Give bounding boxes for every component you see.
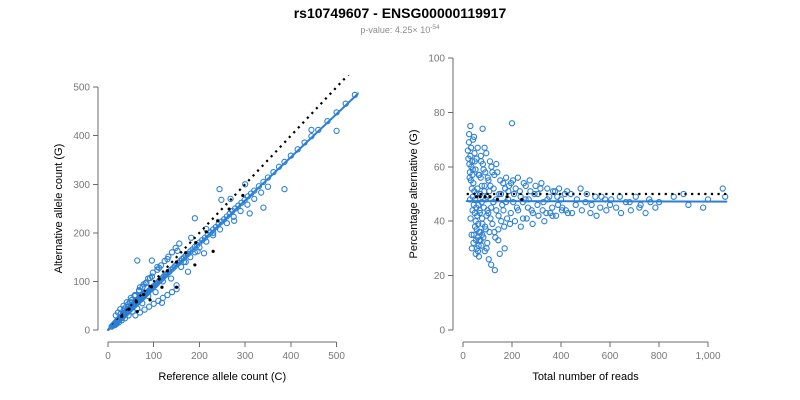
- x-tick-label: 400: [283, 351, 300, 362]
- data-point-dark: [488, 195, 491, 198]
- figure-subtitle: p-value: 4.25× 10-54: [0, 23, 800, 37]
- data-point-dark: [166, 269, 169, 272]
- title-block: rs10749607 - ENSG00000119917 p-value: 4.…: [0, 4, 800, 37]
- x-tick-label: 0: [105, 351, 111, 362]
- data-point: [490, 221, 495, 226]
- data-point: [179, 264, 184, 269]
- data-point: [535, 202, 540, 207]
- data-point-dark: [520, 198, 523, 201]
- data-point: [309, 127, 314, 132]
- data-point-dark: [150, 285, 153, 288]
- data-point: [496, 213, 501, 218]
- y-tick-label: 0: [84, 326, 90, 337]
- data-point-dark: [175, 260, 178, 263]
- data-point-dark: [194, 241, 197, 244]
- data-point: [540, 208, 545, 213]
- data-point-dark: [148, 298, 151, 301]
- data-point: [720, 186, 725, 191]
- data-point-dark: [241, 194, 244, 197]
- x-tick-label: 600: [602, 351, 619, 362]
- data-point-dark: [127, 308, 130, 311]
- data-point: [192, 216, 197, 221]
- data-point: [494, 161, 499, 166]
- data-point-dark: [120, 315, 123, 318]
- data-point-dark: [483, 195, 486, 198]
- data-point: [475, 145, 480, 150]
- data-point: [589, 202, 594, 207]
- data-point: [245, 202, 250, 207]
- data-point: [478, 153, 483, 158]
- y-tick-label: 100: [428, 54, 445, 65]
- data-point: [504, 175, 509, 180]
- data-point: [247, 211, 252, 216]
- mean-line: [467, 201, 727, 202]
- data-point: [217, 187, 222, 192]
- figure-title: rs10749607 - ENSG00000119917: [0, 4, 800, 22]
- figure-root: rs10749607 - ENSG00000119917 p-value: 4.…: [0, 0, 800, 400]
- data-point: [536, 213, 541, 218]
- x-tick-label: 100: [145, 351, 162, 362]
- x-tick-label: 200: [191, 351, 208, 362]
- data-point-dark: [506, 195, 509, 198]
- data-point-dark: [216, 219, 219, 222]
- data-point: [628, 208, 633, 213]
- data-layer: [465, 121, 733, 273]
- data-point: [224, 221, 229, 226]
- data-point: [502, 224, 507, 229]
- data-point: [481, 205, 486, 210]
- data-point: [499, 219, 504, 224]
- data-point: [556, 186, 561, 191]
- data-point: [358, 61, 363, 66]
- data-point: [484, 151, 489, 156]
- left-panel: 0100200300400500Alternative allele count…: [0, 44, 400, 400]
- data-point: [261, 205, 266, 210]
- x-tick-label: 0: [460, 351, 466, 362]
- y-tick-label: 200: [73, 228, 90, 239]
- y-tick-label: 20: [434, 271, 446, 282]
- data-point: [468, 123, 473, 128]
- data-point: [539, 181, 544, 186]
- data-point-dark: [158, 277, 161, 280]
- y-axis-title: Alternative allele count (G): [53, 144, 65, 274]
- data-point: [469, 246, 474, 251]
- x-tick-label: 300: [237, 351, 254, 362]
- data-point: [579, 208, 584, 213]
- data-point: [528, 189, 533, 194]
- data-point: [217, 227, 222, 232]
- data-point: [533, 183, 538, 188]
- data-point-dark: [184, 251, 187, 254]
- data-point: [530, 221, 535, 226]
- data-point: [189, 235, 194, 240]
- data-point-dark: [136, 310, 139, 313]
- data-point: [633, 194, 638, 199]
- data-point: [643, 210, 648, 215]
- subtitle-base: 10: [418, 25, 431, 35]
- data-point: [135, 258, 140, 263]
- data-point: [505, 216, 510, 221]
- x-axis-title: Total number of reads: [532, 371, 639, 383]
- data-point-dark: [193, 263, 196, 266]
- y-tick-label: 500: [73, 83, 90, 94]
- data-point: [538, 186, 543, 191]
- data-point: [502, 246, 507, 251]
- data-point: [515, 175, 520, 180]
- data-point: [501, 208, 506, 213]
- data-point: [265, 184, 270, 189]
- y-tick-label: 40: [434, 217, 446, 228]
- data-point: [185, 269, 190, 274]
- x-tick-label: 500: [328, 351, 345, 362]
- x-tick-label: 200: [504, 351, 521, 362]
- data-point: [497, 251, 502, 256]
- data-point: [594, 213, 599, 218]
- x-tick-label: 1,000: [696, 351, 721, 362]
- data-point-dark: [135, 300, 138, 303]
- data-point: [485, 240, 490, 245]
- data-point: [513, 186, 518, 191]
- x-tick-label: 800: [651, 351, 668, 362]
- data-point-dark: [475, 195, 478, 198]
- data-point: [472, 151, 477, 156]
- data-point: [489, 164, 494, 169]
- data-point: [618, 210, 623, 215]
- data-point: [282, 187, 287, 192]
- data-point: [480, 126, 485, 131]
- y-tick-label: 100: [73, 277, 90, 288]
- data-point: [468, 216, 473, 221]
- data-point: [201, 251, 206, 256]
- data-point-dark: [160, 286, 163, 289]
- data-point: [168, 276, 173, 281]
- data-point: [607, 202, 612, 207]
- data-point: [542, 219, 547, 224]
- data-point: [486, 257, 491, 262]
- data-point-dark: [142, 293, 145, 296]
- data-point: [508, 210, 513, 215]
- y-tick-label: 80: [434, 108, 446, 119]
- data-point: [509, 121, 514, 126]
- data-point-dark: [496, 198, 499, 201]
- right-panel: 020406080100Percentage alternative (G)02…: [400, 44, 800, 400]
- regression-line: [108, 92, 360, 330]
- data-point: [598, 205, 603, 210]
- data-point: [334, 128, 339, 133]
- data-point: [573, 202, 578, 207]
- data-point: [653, 205, 658, 210]
- data-point: [545, 186, 550, 191]
- data-point: [588, 210, 593, 215]
- subtitle-exponent: -54: [430, 24, 439, 31]
- data-point: [614, 205, 619, 210]
- data-point: [512, 219, 517, 224]
- data-point-dark: [205, 230, 208, 233]
- data-point-dark: [228, 207, 231, 210]
- data-point: [550, 205, 555, 210]
- data-point: [507, 221, 512, 226]
- x-axis-title: Reference allele count (C): [158, 371, 286, 383]
- data-point: [494, 208, 499, 213]
- data-point: [177, 241, 182, 246]
- data-point: [492, 268, 497, 273]
- data-point-dark: [479, 195, 482, 198]
- data-point: [238, 208, 243, 213]
- data-point: [149, 258, 154, 263]
- data-point: [701, 205, 706, 210]
- subtitle-pvalue-text: p-value: 4.25: [360, 25, 412, 35]
- data-point: [686, 202, 691, 207]
- y-tick-label: 300: [73, 180, 90, 191]
- data-point-dark: [212, 250, 215, 253]
- data-layer: [108, 60, 363, 330]
- data-point: [259, 190, 264, 195]
- data-point: [518, 224, 523, 229]
- left-panel-plot: 0100200300400500Alternative allele count…: [0, 44, 400, 400]
- data-point: [527, 178, 532, 183]
- data-point: [604, 208, 609, 213]
- data-point: [525, 205, 530, 210]
- data-point: [252, 196, 257, 201]
- data-point-dark: [175, 286, 178, 289]
- right-panel-plot: 020406080100Percentage alternative (G)02…: [400, 44, 800, 400]
- data-point: [153, 290, 158, 295]
- data-point: [219, 197, 224, 202]
- data-point: [489, 205, 494, 210]
- y-tick-label: 60: [434, 162, 446, 173]
- data-point: [467, 132, 472, 137]
- y-tick-label: 400: [73, 131, 90, 142]
- y-tick-label: 0: [439, 326, 445, 337]
- x-tick-label: 400: [553, 351, 570, 362]
- data-point: [487, 159, 492, 164]
- data-point: [578, 186, 583, 191]
- data-point: [520, 216, 525, 221]
- data-point: [489, 262, 494, 267]
- y-axis-title: Percentage alternative (G): [408, 129, 420, 258]
- data-point: [482, 145, 487, 150]
